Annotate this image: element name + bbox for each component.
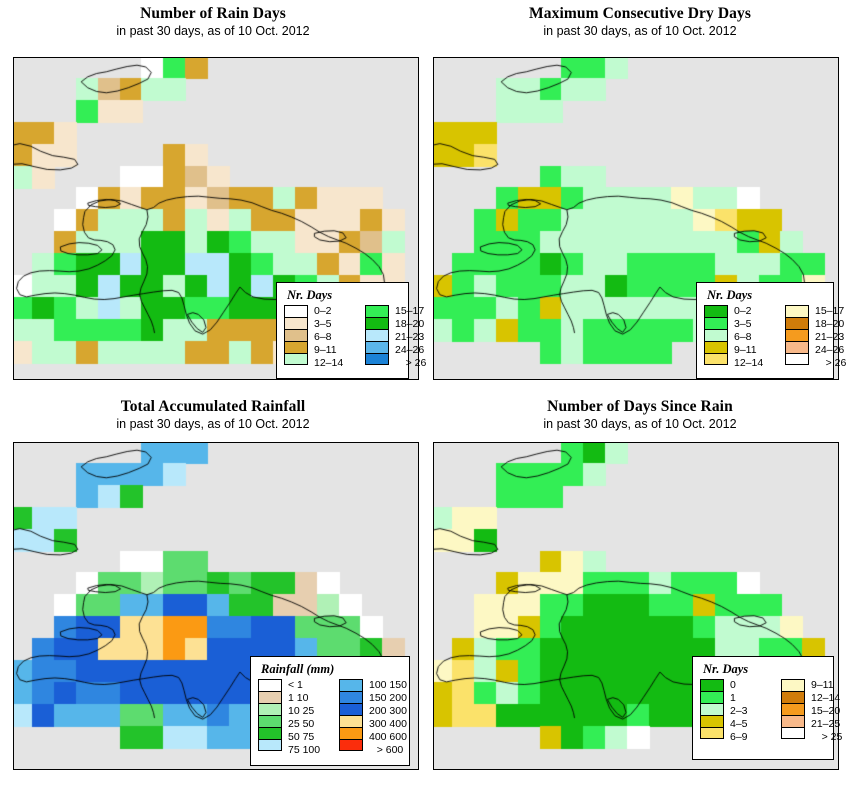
legend-label: 150 200 (363, 692, 413, 705)
legend-label: 2–3 (724, 705, 774, 718)
legend-column-2: 9–1112–1415–2021–25> 25 (781, 679, 853, 744)
legend-accum-rainfall: Rainfall (mm) < 11 1010 2525 5050 7575 1… (250, 656, 410, 766)
legend-swatch (258, 703, 282, 715)
legend-swatch (339, 679, 363, 691)
legend-swatch (258, 715, 282, 727)
legend-label: 12–14 (728, 357, 778, 370)
legend-rain-days: Nr. Days 0–23–56–89–1112–1415–1718–2021–… (276, 282, 409, 379)
legend-swatch (284, 317, 308, 329)
legend-swatch (339, 691, 363, 703)
legend-entry-group: 9–1112–1415–2021–25> 25 (781, 679, 853, 744)
legend-swatch (339, 727, 363, 739)
legend-swatch (365, 305, 389, 317)
panel-title-accum-rainfall: Total Accumulated Rainfall (0, 398, 426, 416)
legend-label: 75 100 (282, 744, 332, 757)
legend-label: 21–23 (809, 331, 853, 344)
panel-title-dry-days: Maximum Consecutive Dry Days (427, 5, 853, 23)
legend-swatch-stack (700, 679, 724, 744)
legend-swatch (284, 305, 308, 317)
legend-swatch (258, 727, 282, 739)
legend-swatch (700, 679, 724, 691)
legend-label: < 1 (282, 679, 332, 692)
legend-label: 6–8 (728, 331, 778, 344)
legend-swatch (339, 739, 363, 751)
legend-swatch (258, 739, 282, 751)
rainfall-monitoring-figure: Number of Rain Days in past 30 days, as … (0, 0, 853, 793)
legend-swatch-stack (365, 305, 389, 370)
legend-entry-group: 0–23–56–89–1112–14 (704, 305, 778, 370)
legend-label-stack: 100 150150 200200 300300 400400 600> 600 (363, 679, 413, 757)
legend-label: 300 400 (363, 718, 413, 731)
legend-swatch (284, 329, 308, 341)
legend-label-stack: 9–1112–1415–2021–25> 25 (805, 679, 853, 744)
legend-title-accum-rainfall: Rainfall (mm) (261, 663, 402, 676)
legend-title-rain-days: Nr. Days (287, 289, 401, 302)
legend-swatch (284, 341, 308, 353)
legend-column-1: 012–34–56–9 (700, 679, 774, 744)
legend-swatch (781, 703, 805, 715)
panel-rain-days: Number of Rain Days in past 30 days, as … (0, 5, 426, 395)
legend-dry-days: Nr. Days 0–23–56–89–1112–1415–1718–2021–… (696, 282, 834, 379)
legend-entry-group: < 11 1010 2525 5050 7575 100 (258, 679, 332, 757)
panel-subtitle-dry-days: in past 30 days, as of 10 Oct. 2012 (427, 24, 853, 38)
legend-swatch (700, 727, 724, 739)
legend-swatch-stack (339, 679, 363, 757)
legend-label: 1 10 (282, 692, 332, 705)
legend-label: 0 (724, 679, 774, 692)
legend-swatch (704, 305, 728, 317)
panel-title-days-since-rain: Number of Days Since Rain (427, 398, 853, 416)
legend-entry-group: 100 150150 200200 300300 400400 600> 600 (339, 679, 413, 757)
legend-label: 18–20 (809, 318, 853, 331)
legend-swatch (284, 353, 308, 365)
legend-label: 3–5 (728, 318, 778, 331)
legend-label: 25 50 (282, 718, 332, 731)
legend-label: 400 600 (363, 731, 413, 744)
legend-column-2: 100 150150 200200 300300 400400 600> 600 (339, 679, 413, 757)
legend-swatch (781, 679, 805, 691)
legend-label-stack: 0–23–56–89–1112–14 (728, 305, 778, 370)
legend-columns: < 11 1010 2525 5050 7575 100100 150150 2… (258, 679, 402, 757)
legend-swatch (258, 691, 282, 703)
legend-swatch (365, 353, 389, 365)
legend-label: 0–2 (728, 305, 778, 318)
legend-entry-group: 012–34–56–9 (700, 679, 774, 744)
legend-title-dry-days: Nr. Days (707, 289, 826, 302)
legend-swatch (785, 341, 809, 353)
legend-label: 200 300 (363, 705, 413, 718)
panel-days-since-rain: Number of Days Since Rain in past 30 day… (427, 398, 853, 790)
legend-label: 100 150 (363, 679, 413, 692)
legend-label: 24–26 (809, 344, 853, 357)
panel-title-rain-days: Number of Rain Days (0, 5, 426, 23)
legend-label: 1 (724, 692, 774, 705)
legend-swatch (704, 353, 728, 365)
legend-column-2: 15–1718–2021–2324–26> 26 (785, 305, 853, 370)
legend-swatch (365, 329, 389, 341)
panel-subtitle-accum-rainfall: in past 30 days, as of 10 Oct. 2012 (0, 417, 426, 431)
legend-label-stack: < 11 1010 2525 5050 7575 100 (282, 679, 332, 757)
legend-label: 12–14 (805, 692, 853, 705)
legend-columns: 0–23–56–89–1112–1415–1718–2021–2324–26> … (704, 305, 826, 370)
legend-swatch (700, 715, 724, 727)
legend-swatch (781, 715, 805, 727)
legend-swatch (704, 329, 728, 341)
legend-column-1: 0–23–56–89–1112–14 (284, 305, 358, 370)
legend-label: > 26 (809, 357, 853, 370)
legend-label: 6–9 (724, 731, 774, 744)
legend-column-1: < 11 1010 2525 5050 7575 100 (258, 679, 332, 757)
legend-swatch-stack (284, 305, 308, 370)
legend-swatch-stack (781, 679, 805, 744)
panel-subtitle-days-since-rain: in past 30 days, as of 10 Oct. 2012 (427, 417, 853, 431)
legend-label: 50 75 (282, 731, 332, 744)
legend-swatch (365, 317, 389, 329)
legend-swatch (339, 715, 363, 727)
legend-label: 3–5 (308, 318, 358, 331)
legend-label: > 25 (805, 731, 853, 744)
legend-swatch (785, 317, 809, 329)
legend-label: 12–14 (308, 357, 358, 370)
legend-swatch (704, 317, 728, 329)
legend-swatch (704, 341, 728, 353)
legend-entry-group: 15–1718–2021–2324–26> 26 (785, 305, 853, 370)
legend-label-stack: 15–1718–2021–2324–26> 26 (809, 305, 853, 370)
legend-label: 9–11 (308, 344, 358, 357)
legend-entry-group: 0–23–56–89–1112–14 (284, 305, 358, 370)
legend-swatch (258, 679, 282, 691)
legend-swatch (785, 305, 809, 317)
panel-subtitle-rain-days: in past 30 days, as of 10 Oct. 2012 (0, 24, 426, 38)
legend-label: 15–20 (805, 705, 853, 718)
legend-label: 9–11 (728, 344, 778, 357)
legend-label-stack: 012–34–56–9 (724, 679, 774, 744)
legend-label: 4–5 (724, 718, 774, 731)
legend-swatch (700, 691, 724, 703)
legend-label-stack: 0–23–56–89–1112–14 (308, 305, 358, 370)
legend-label: 10 25 (282, 705, 332, 718)
legend-swatch (781, 727, 805, 739)
legend-label: 6–8 (308, 331, 358, 344)
legend-swatch (785, 329, 809, 341)
legend-columns: 0–23–56–89–1112–1415–1718–2021–2324–26> … (284, 305, 401, 370)
legend-title-days-since-rain: Nr. Days (703, 663, 826, 676)
legend-label: 15–17 (809, 305, 853, 318)
legend-label: 21–25 (805, 718, 853, 731)
legend-label: 0–2 (308, 305, 358, 318)
legend-swatch-stack (258, 679, 282, 757)
legend-swatch (365, 341, 389, 353)
legend-swatch-stack (785, 305, 809, 370)
legend-label: > 600 (363, 744, 413, 757)
legend-swatch (781, 691, 805, 703)
panel-dry-days: Maximum Consecutive Dry Days in past 30 … (427, 5, 853, 395)
legend-swatch-stack (704, 305, 728, 370)
legend-columns: 012–34–56–99–1112–1415–2021–25> 25 (700, 679, 826, 744)
legend-days-since-rain: Nr. Days 012–34–56–99–1112–1415–2021–25>… (692, 656, 834, 760)
legend-label: 9–11 (805, 679, 853, 692)
panel-accum-rainfall: Total Accumulated Rainfall in past 30 da… (0, 398, 426, 790)
legend-swatch (339, 703, 363, 715)
legend-swatch (700, 703, 724, 715)
legend-column-1: 0–23–56–89–1112–14 (704, 305, 778, 370)
legend-swatch (785, 353, 809, 365)
